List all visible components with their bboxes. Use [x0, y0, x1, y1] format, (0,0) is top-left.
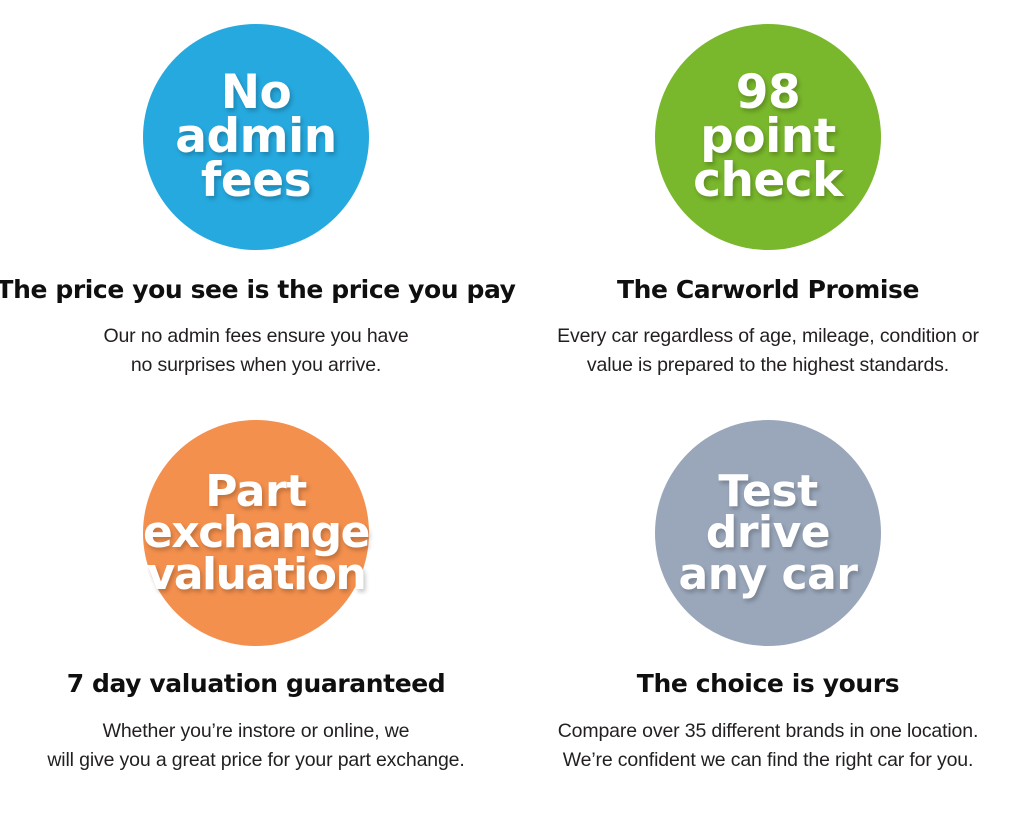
badge-label-test-drive-any-car: Test drive any car	[679, 471, 858, 595]
badge-line: valuation	[143, 554, 369, 595]
feature-heading-carworld-promise: The Carworld Promise	[609, 275, 927, 304]
badge-test-drive-any-car: Test drive any car	[655, 420, 881, 646]
feature-heading-7-day-valuation: 7 day valuation guaranteed	[59, 669, 454, 698]
badge-98-point-check: 98 point check	[655, 24, 881, 250]
badge-line: Test	[679, 471, 858, 512]
badge-line: exchange	[143, 512, 369, 553]
badge-line: drive	[679, 512, 858, 553]
feature-card-part-exchange-valuation: Part exchange valuation 7 day valuation …	[0, 410, 512, 808]
feature-body-no-admin-fees: Our no admin fees ensure you have no sur…	[103, 322, 408, 380]
feature-heading-choice-is-yours: The choice is yours	[629, 669, 907, 698]
feature-grid: No admin fees The price you see is the p…	[0, 0, 1024, 819]
badge-line: fees	[175, 159, 336, 203]
badge-label-part-exchange-valuation: Part exchange valuation	[143, 471, 369, 595]
feature-card-98-point-check: 98 point check The Carworld Promise Ever…	[512, 12, 1024, 410]
badge-part-exchange-valuation: Part exchange valuation	[143, 420, 369, 646]
feature-card-test-drive-any-car: Test drive any car The choice is yours C…	[512, 410, 1024, 808]
badge-line: Part	[143, 471, 369, 512]
feature-body-carworld-promise: Every car regardless of age, mileage, co…	[557, 322, 979, 380]
feature-body-7-day-valuation: Whether you’re instore or online, we wil…	[47, 717, 464, 775]
badge-line: check	[693, 159, 843, 203]
feature-heading-no-admin-fees: The price you see is the price you pay	[0, 275, 524, 304]
badge-label-98-point-check: 98 point check	[693, 71, 843, 204]
badge-label-no-admin-fees: No admin fees	[175, 71, 336, 204]
feature-card-no-admin-fees: No admin fees The price you see is the p…	[0, 12, 512, 410]
badge-line: any car	[679, 554, 858, 595]
badge-no-admin-fees: No admin fees	[143, 24, 369, 250]
feature-body-choice-is-yours: Compare over 35 different brands in one …	[558, 717, 978, 775]
